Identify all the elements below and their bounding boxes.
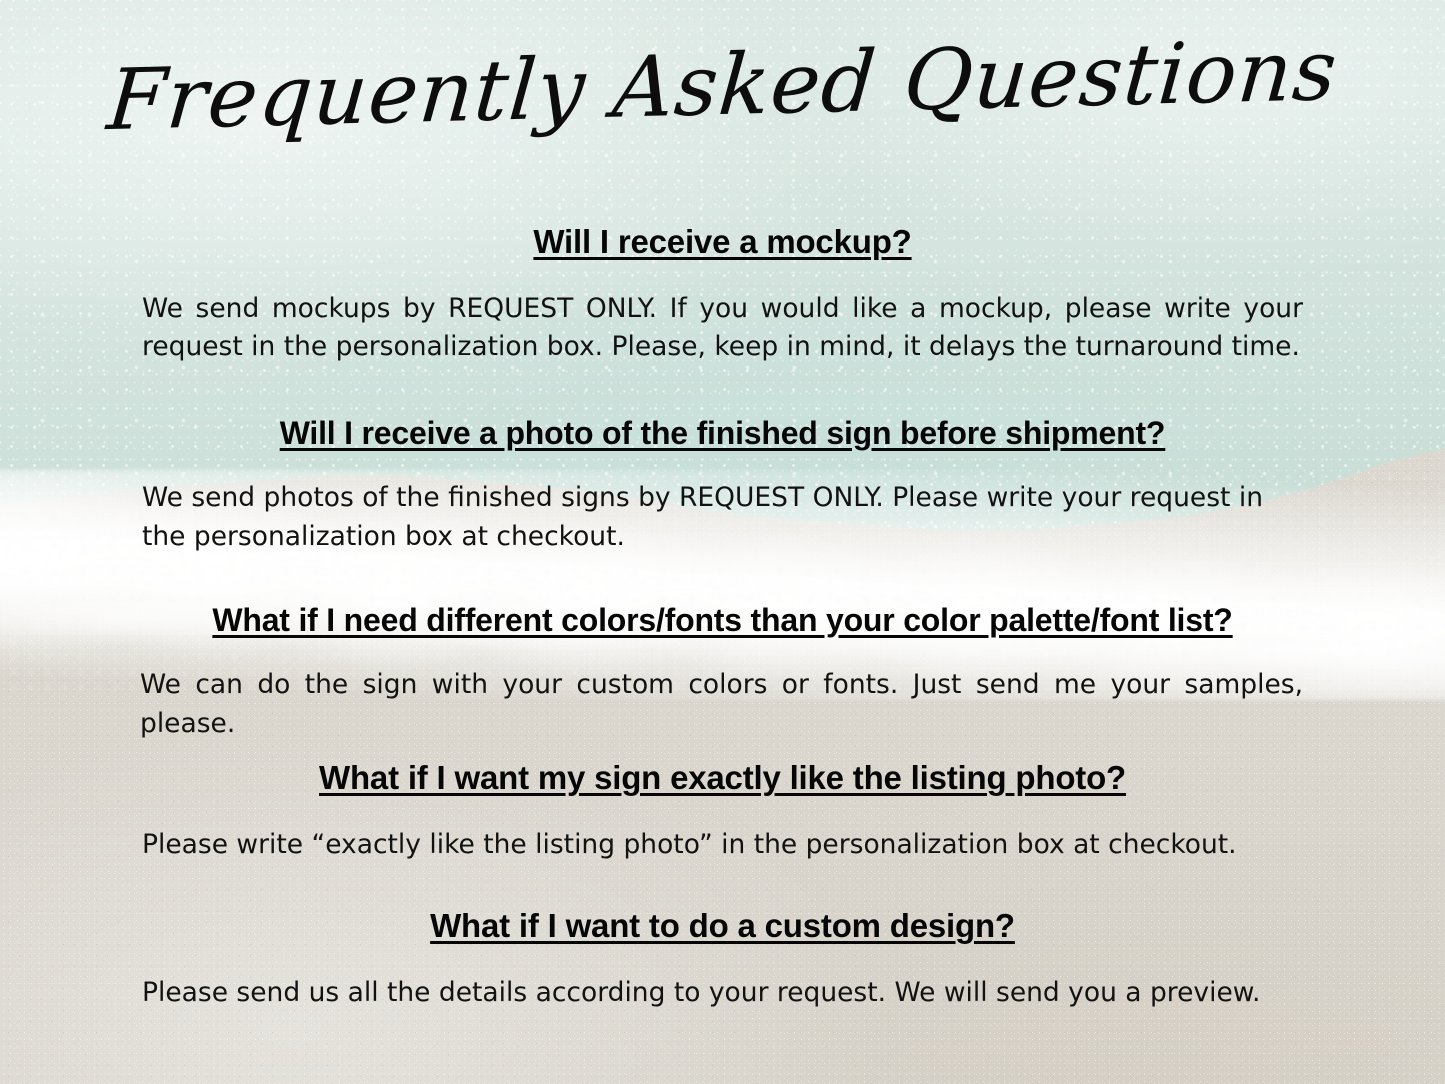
faq-item-3: What if I need different colors/fonts th… bbox=[0, 575, 1445, 743]
faq-page: Frequently Asked Questions Will I receiv… bbox=[0, 0, 1445, 1084]
faq-question-1: Will I receive a mockup? bbox=[0, 223, 1445, 262]
faq-question-2: Will I receive a photo of the finished s… bbox=[0, 415, 1445, 453]
faq-item-2: Will I receive a photo of the finished s… bbox=[0, 388, 1445, 556]
faq-item-4: What if I want my sign exactly like the … bbox=[0, 732, 1445, 864]
faq-question-4: What if I want my sign exactly like the … bbox=[0, 759, 1445, 798]
faq-answer-2: We send photos of the finished signs by … bbox=[142, 479, 1277, 556]
faq-content: Frequently Asked Questions Will I receiv… bbox=[0, 0, 1445, 1084]
faq-question-3: What if I need different colors/fonts th… bbox=[0, 602, 1445, 640]
faq-answer-4: Please write “exactly like the listing p… bbox=[142, 826, 1325, 865]
faq-answer-1: We send mockups by REQUEST ONLY. If you … bbox=[142, 290, 1303, 367]
faq-item-1: Will I receive a mockup? We send mockups… bbox=[0, 196, 1445, 367]
faq-question-5: What if I want to do a custom design? bbox=[0, 907, 1445, 946]
faq-answer-5: Please send us all the details according… bbox=[142, 974, 1325, 1013]
faq-item-5: What if I want to do a custom design? Pl… bbox=[0, 880, 1445, 1012]
page-title: Frequently Asked Questions bbox=[0, 20, 1445, 150]
